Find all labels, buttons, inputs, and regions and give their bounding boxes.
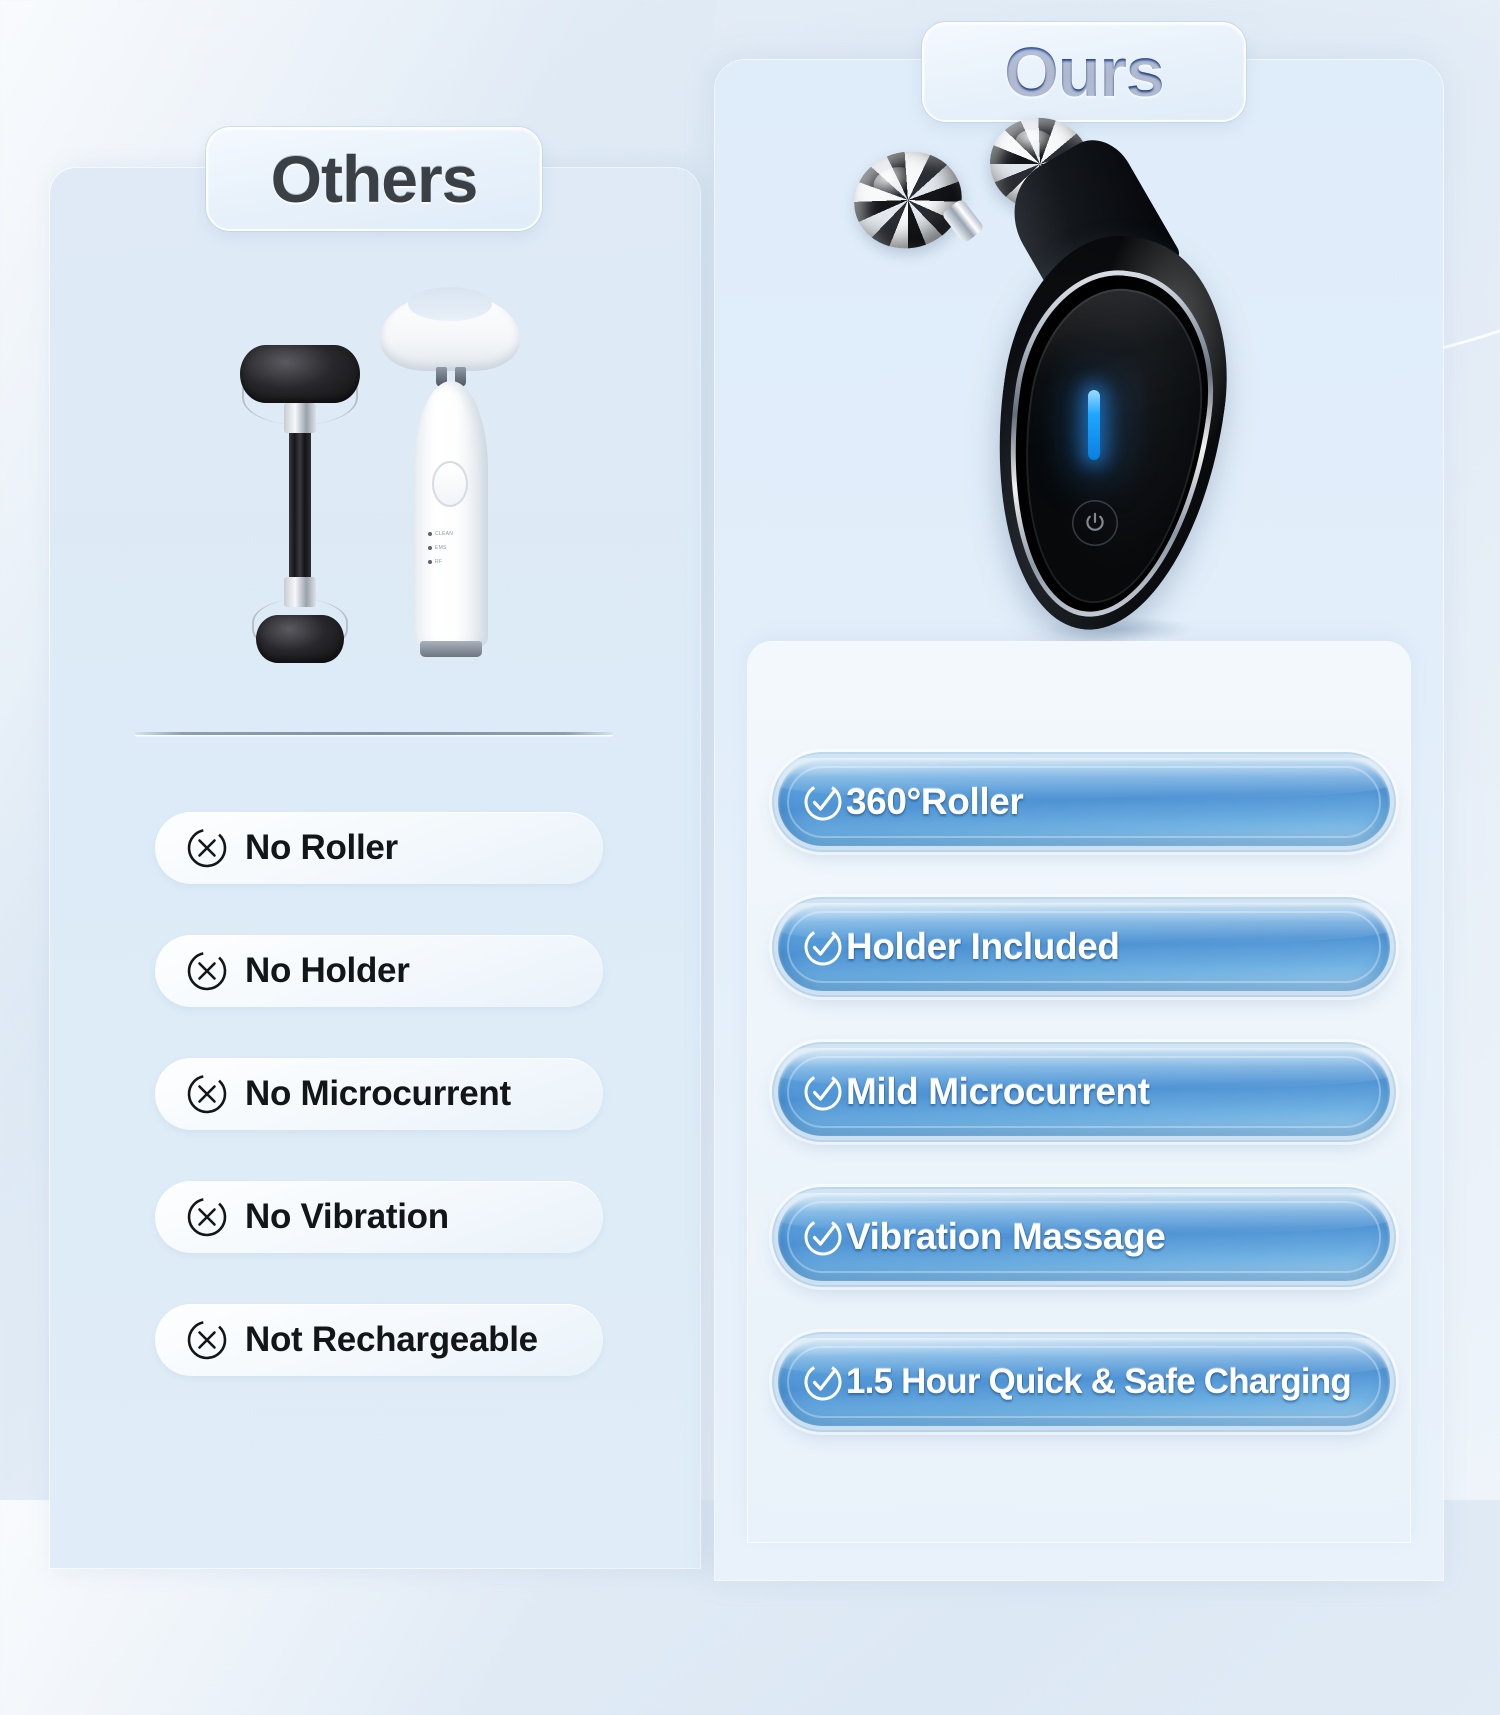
others-feature-label: No Roller [245,828,398,868]
others-feature-label: No Vibration [245,1197,449,1237]
others-title-badge: Others [208,129,540,229]
ours-feature-label: 360°Roller [846,781,1023,823]
ours-feature-list: 360°Roller Holder Included Mild Microcur… [778,758,1390,1426]
circle-check-icon [800,1359,846,1405]
led-indicator-icon [1088,390,1100,460]
others-feature-label: No Holder [245,951,410,991]
ours-feature-label: 1.5 Hour Quick & Safe Charging [846,1362,1351,1402]
circle-check-icon [800,924,846,970]
circle-check-icon [800,1069,846,1115]
others-divider [135,732,613,735]
ours-feature-label: Mild Microcurrent [846,1071,1150,1113]
neck-device-mode-indicators: CLEAN EMS RF [428,531,472,573]
roller-ball-highlight [870,163,919,201]
circle-x-icon [185,949,229,993]
circle-x-icon [185,1318,229,1362]
others-product-images: CLEAN EMS RF [190,285,570,685]
ours-feature-item[interactable]: Holder Included [778,903,1390,991]
mode-label-1: CLEAN [435,531,453,537]
roller-ball-left-icon [844,140,972,259]
neck-device-base [420,641,482,657]
neck-device-power-button [432,461,468,507]
neck-device-mode-1: CLEAN [428,531,472,537]
neck-device-mode-2: EMS [428,545,472,551]
circle-x-icon [185,1072,229,1116]
ours-feature-item[interactable]: Mild Microcurrent [778,1048,1390,1136]
ours-feature-item[interactable]: 360°Roller [778,758,1390,846]
jade-roller-image [220,337,380,667]
roller-ball-highlight [1013,127,1057,161]
ours-product-image [840,118,1260,648]
neck-device-body [414,381,488,649]
others-title-text: Others [271,141,478,217]
neck-device-image: CLEAN EMS RF [380,293,520,673]
ours-feature-item[interactable]: 1.5 Hour Quick & Safe Charging [778,1338,1390,1426]
ours-title-badge: Ours [924,24,1244,120]
circle-check-icon [800,1214,846,1260]
roller-head-large [240,345,360,403]
mode-dot-1 [428,532,432,536]
ours-feature-label: Vibration Massage [846,1216,1165,1258]
ours-feature-label: Holder Included [846,926,1120,968]
circle-x-icon [185,826,229,870]
roller-handle [289,417,311,595]
ours-feature-item[interactable]: Vibration Massage [778,1193,1390,1281]
others-feature-label: Not Rechargeable [245,1320,538,1360]
neck-device-mode-3: RF [428,559,472,565]
others-feature-label: No Microcurrent [245,1074,511,1114]
circle-check-icon [800,779,846,825]
others-feature-list: No Roller No Holder No Microcurrent No V… [155,812,603,1376]
roller-head-small [256,615,344,663]
mode-label-2: EMS [435,545,447,551]
others-feature-item[interactable]: Not Rechargeable [155,1304,603,1376]
others-feature-item[interactable]: No Microcurrent [155,1058,603,1130]
device-body [972,222,1247,644]
circle-x-icon [185,1195,229,1239]
others-feature-item[interactable]: No Vibration [155,1181,603,1253]
power-button-icon [1072,500,1118,546]
mode-dot-2 [428,546,432,550]
others-feature-item[interactable]: No Roller [155,812,603,884]
roller-ferrule-bottom [284,577,316,607]
neck-device-notch [408,287,492,321]
mode-dot-3 [428,560,432,564]
mode-label-3: RF [435,559,442,565]
roller-ferrule-top [284,403,316,433]
others-feature-item[interactable]: No Holder [155,935,603,1007]
ours-title-text: Ours [1004,32,1163,112]
